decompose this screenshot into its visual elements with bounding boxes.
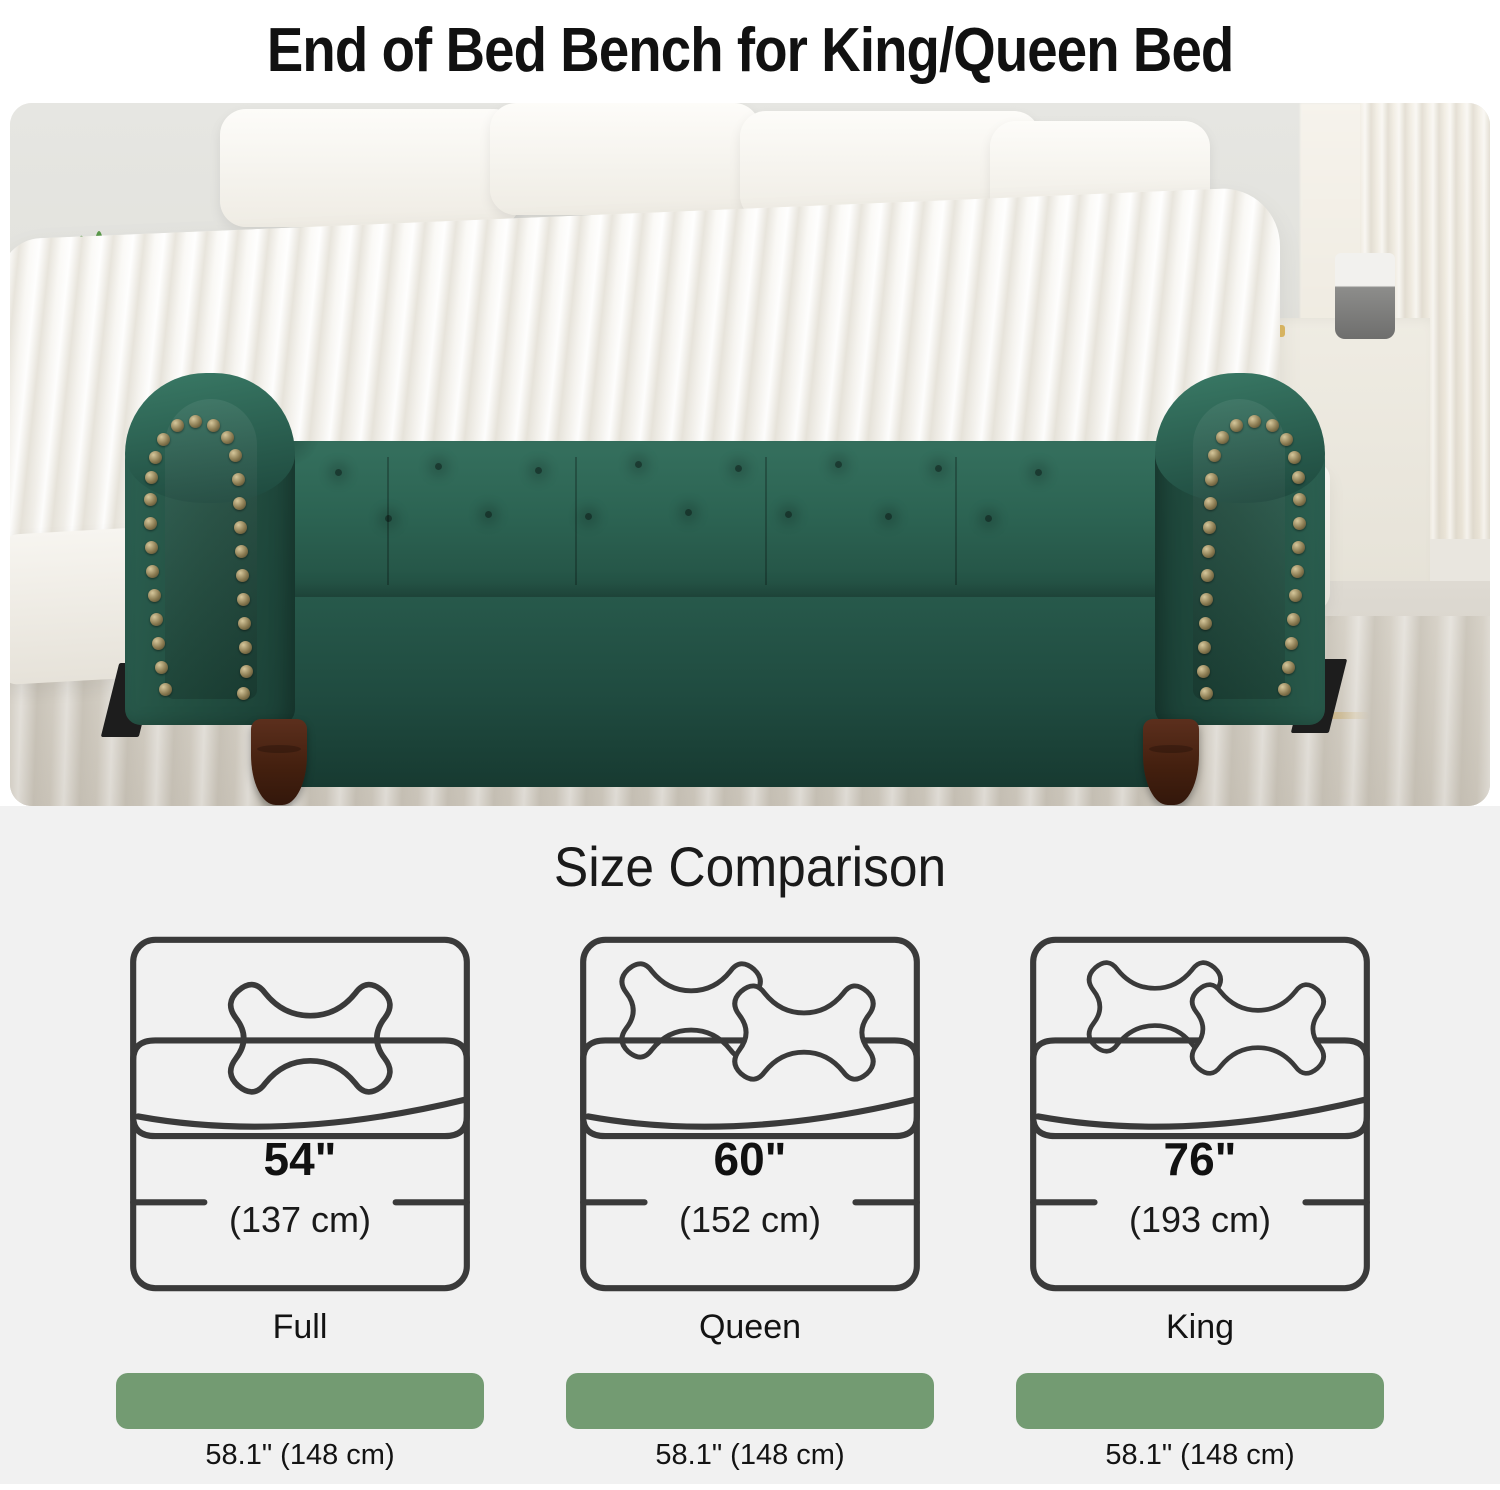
vase-icon xyxy=(1335,253,1395,339)
bench-width-bar xyxy=(566,1373,934,1429)
bed-size-card-full: 54" (137 cm) Full 58.1" (148 cm) xyxy=(116,930,484,1472)
bed-width-inches: 60" xyxy=(566,1132,934,1186)
bed-size-label: Full xyxy=(273,1308,328,1347)
tufting-pattern xyxy=(275,441,1175,601)
bench-tufted-seat xyxy=(275,441,1175,601)
bench-leg-left xyxy=(251,719,307,805)
bed-size-label: King xyxy=(1166,1308,1234,1347)
bench-arm-left xyxy=(125,375,295,725)
bed-width-cm: (193 cm) xyxy=(1016,1199,1384,1241)
bench-width-label: 58.1" (148 cm) xyxy=(205,1439,394,1472)
bed-diagram-full: 54" (137 cm) xyxy=(116,930,484,1298)
storage-bench xyxy=(125,375,1325,805)
bed-pillow xyxy=(220,109,520,227)
bed-width-cm: (152 cm) xyxy=(566,1199,934,1241)
bed-size-row: 54" (137 cm) Full 58.1" (148 cm) xyxy=(0,930,1500,1490)
size-comparison-title: Size Comparison xyxy=(60,834,1440,899)
bench-leg-right xyxy=(1143,719,1199,805)
product-infographic: End of Bed Bench for King/Queen Bed 20 O… xyxy=(0,0,1500,1484)
bench-width-label: 58.1" (148 cm) xyxy=(1105,1439,1294,1472)
bed-width-inches: 76" xyxy=(1016,1132,1384,1186)
bed-width-cm: (137 cm) xyxy=(116,1199,484,1241)
bed-diagram-king: 76" (193 cm) xyxy=(1016,930,1384,1298)
size-comparison-section: Size Comparison 54" xyxy=(0,806,1500,1484)
bed-size-card-king: 76" (193 cm) King 58.1" (148 cm) xyxy=(1016,930,1384,1472)
bed-size-label: Queen xyxy=(699,1308,801,1347)
page-title: End of Bed Bench for King/Queen Bed xyxy=(267,15,1233,86)
bed-size-card-queen: 60" (152 cm) Queen 58.1" (148 cm) xyxy=(566,930,934,1472)
nailhead-trim-right xyxy=(1155,375,1325,725)
bench-width-bar xyxy=(116,1373,484,1429)
bench-width-bar xyxy=(1016,1373,1384,1429)
lifestyle-photo: 20 OCT xyxy=(10,103,1490,806)
nailhead-trim-left xyxy=(125,375,295,725)
page-title-bar: End of Bed Bench for King/Queen Bed xyxy=(0,0,1500,100)
bench-arm-right xyxy=(1155,375,1325,725)
bed-width-inches: 54" xyxy=(116,1132,484,1186)
bed-pillow xyxy=(490,103,760,215)
bench-width-label: 58.1" (148 cm) xyxy=(655,1439,844,1472)
bed-diagram-queen: 60" (152 cm) xyxy=(566,930,934,1298)
bench-storage-body xyxy=(275,597,1175,787)
